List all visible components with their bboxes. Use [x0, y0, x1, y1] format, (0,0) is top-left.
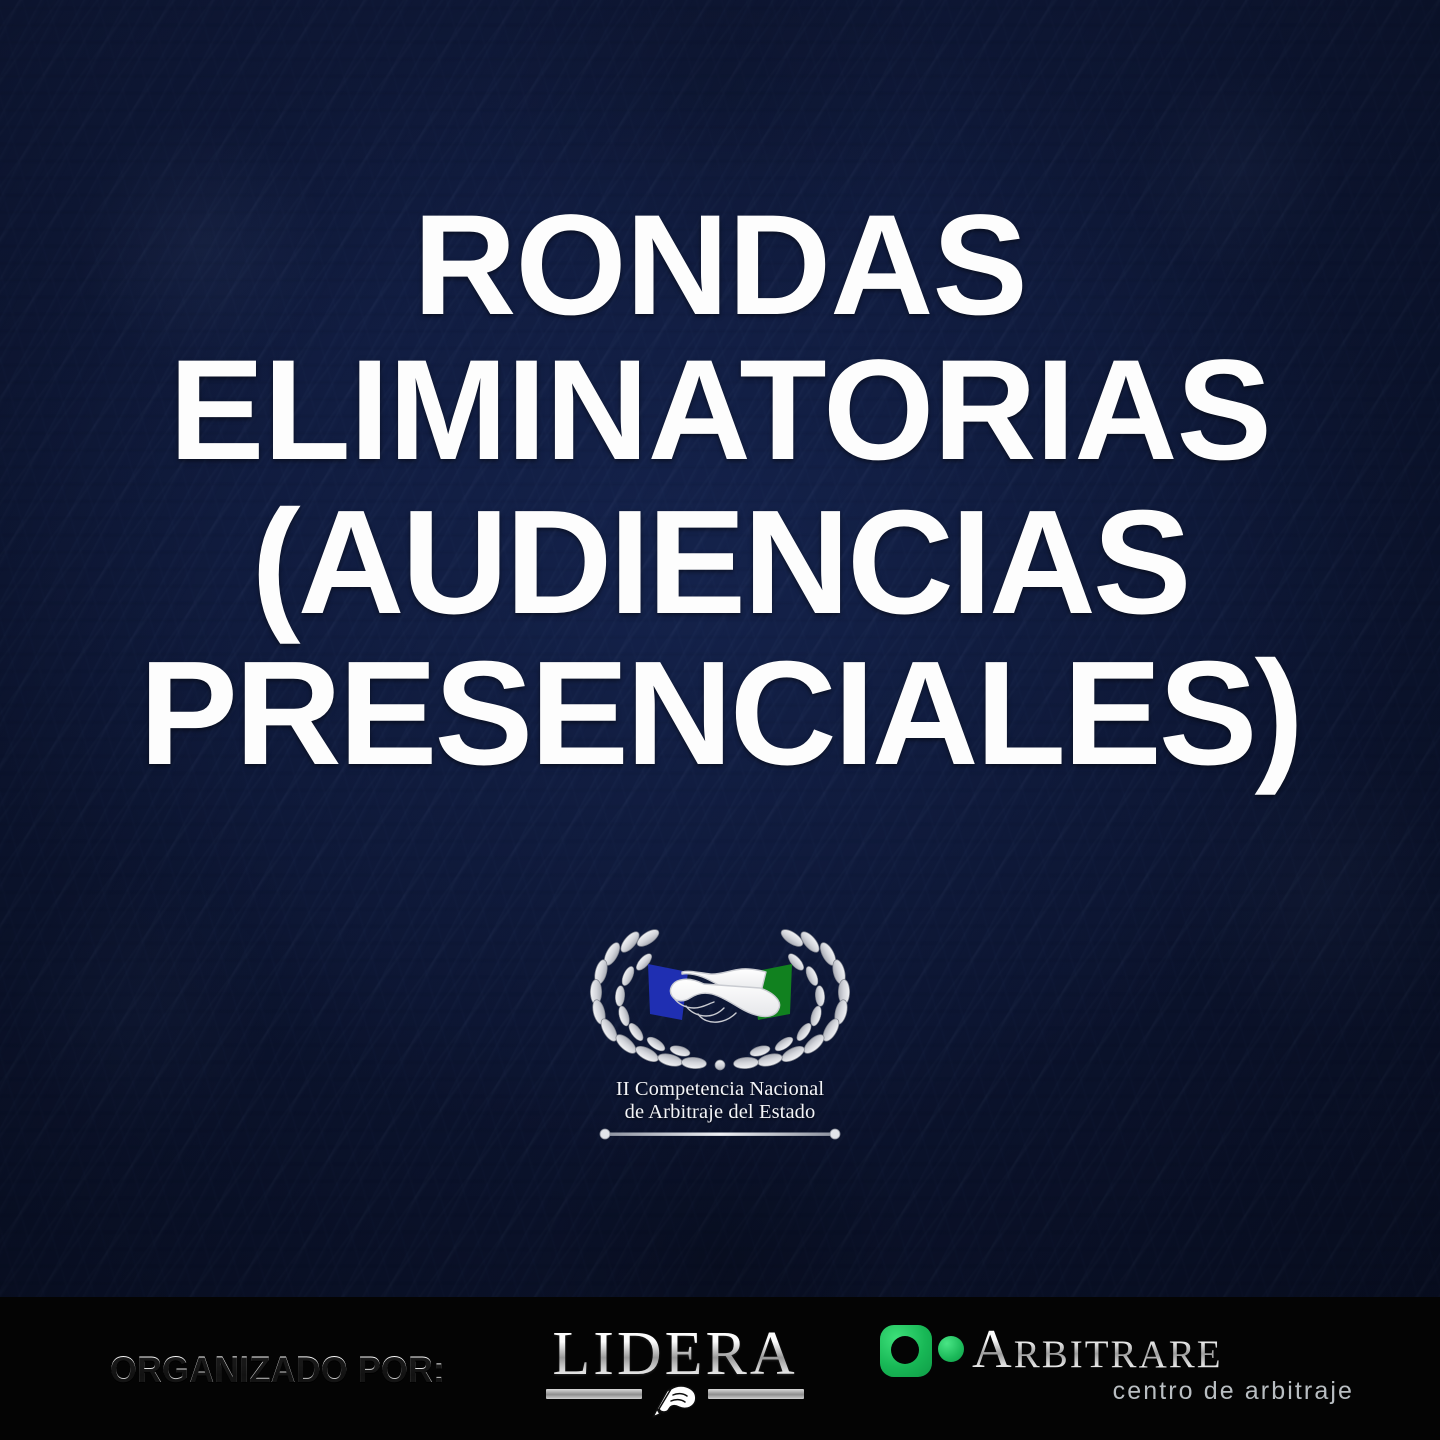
lidera-bar-right [708, 1389, 804, 1399]
laurel-wreath-handshake-emblem [570, 928, 870, 1076]
emblem-title: II Competencia Nacional de Arbitraje del… [570, 1078, 870, 1124]
arbitrare-green-square-dot-icon [880, 1325, 964, 1377]
emblem-divider-rule [599, 1127, 841, 1141]
headline-line-3: (AUDIENCIAS [0, 490, 1440, 636]
organized-by-label: ORGANIZADO POR: [110, 1349, 445, 1391]
arbitrare-wordmark: Arbitrare [972, 1323, 1360, 1376]
emblem-title-line-1: II Competencia Nacional [570, 1078, 870, 1101]
headline-line-4: PRESENCIALES) [0, 641, 1440, 787]
arbitrare-dot-shape [938, 1336, 964, 1362]
emblem-title-line-2: de Arbitraje del Estado [570, 1101, 870, 1124]
footer-sponsor-bar: ORGANIZADO POR: LIDERA [0, 1297, 1440, 1440]
lidera-underline-rule [546, 1383, 804, 1417]
lidera-wordmark: LIDERA [530, 1323, 820, 1385]
competition-emblem: II Competencia Nacional de Arbitraje del… [570, 928, 870, 1141]
sponsor-logo-lidera[interactable]: LIDERA [530, 1323, 820, 1417]
poster-canvas: RONDAS ELIMINATORIAS (AUDIENCIAS PRESENC… [0, 0, 1440, 1440]
hand-writing-pen-icon [647, 1379, 703, 1419]
poster-headline: RONDAS ELIMINATORIAS (AUDIENCIAS PRESENC… [0, 196, 1440, 787]
sponsor-logo-arbitrare[interactable]: Arbitrare centro de arbitraje [880, 1323, 1360, 1406]
arbitrare-tagline: centro de arbitraje [972, 1377, 1360, 1406]
headline-line-1: RONDAS [0, 196, 1440, 337]
lidera-bar-left [546, 1389, 642, 1399]
headline-line-2: ELIMINATORIAS [0, 341, 1440, 482]
arbitrare-square-shape [880, 1325, 932, 1377]
